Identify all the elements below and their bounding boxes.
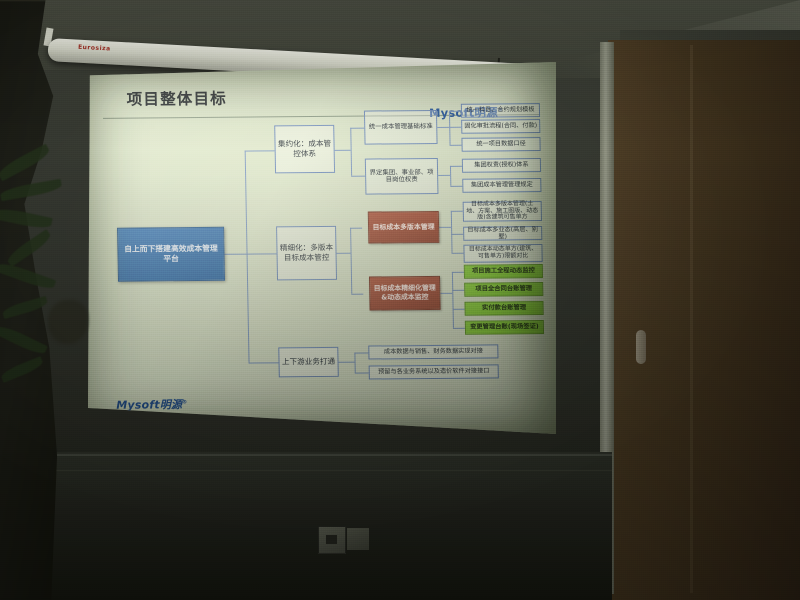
connector [438,175,450,176]
connector [449,127,461,128]
connector [354,353,355,373]
registered-mark: ® [182,399,187,405]
wall-power-socket[interactable] [318,526,346,554]
connector [249,362,279,363]
leaf-item[interactable]: 统一项目数据口径 [461,137,540,152]
node-branch-2-child-1[interactable]: 目标成本多版本管理 [368,211,440,244]
leaf-item[interactable]: 固化审批流程(合同、付款) [461,119,540,134]
mysoft-logo-bottom-left: Mysoft明源® [116,396,187,413]
connector [452,272,464,273]
connector [437,127,449,128]
plant-leaf [0,323,48,357]
connector [225,254,247,255]
leaf-item[interactable]: 集团成本管理管理规定 [462,178,541,193]
connector [451,234,463,235]
connector [355,373,369,374]
connector [452,272,454,328]
door-seam [690,45,693,593]
connector [350,228,362,229]
screenshot-root: Eurosiza 项目整体目标 Mysoft明源® Mysoft明源® [0,0,800,600]
node-branch-2-child-2[interactable]: 目标成本精细化管理&动态成本监控 [369,276,441,311]
connector [452,290,464,291]
wall-power-socket-secondary[interactable] [347,528,369,550]
wooden-door[interactable] [608,40,800,600]
page-title: 项目整体目标 [126,87,227,110]
connector [449,111,461,112]
leaf-item[interactable]: 集团权责(授权)体系 [462,158,541,173]
projected-slide-surface: 项目整体目标 Mysoft明源® Mysoft明源® [88,62,556,434]
connector [245,151,250,363]
potted-plant [0,150,114,480]
connector [439,227,451,228]
connector [450,145,462,146]
node-root[interactable]: 自上而下搭建高效成本管理平台 [117,227,225,282]
plant-leaf [1,296,48,319]
node-branch-1[interactable]: 集约化：成本管控体系 [274,125,335,174]
connector [450,186,462,187]
connector [350,128,364,129]
connector [350,128,352,176]
connector [350,228,352,294]
connector [245,150,275,151]
plant-leaf [0,179,63,202]
projection-screen: 项目整体目标 Mysoft明源® Mysoft明源® [88,62,556,434]
logo-text: Mysoft明源 [116,398,182,412]
connector [450,166,462,167]
leaf-item[interactable]: 实付款台账管理 [464,301,543,316]
connector [351,294,363,295]
node-branch-2[interactable]: 精细化：多版本目标成本管控 [276,226,337,281]
plant-leaf [0,144,52,182]
plant-leaf [5,229,53,267]
connector [351,176,365,177]
leaf-item[interactable]: 统一科目、合约规划模板 [461,103,540,118]
leaf-item[interactable]: 项目全合同台账管理 [464,282,543,297]
connector [451,211,463,212]
node-branch-1-child-1[interactable]: 统一成本管理基础标准 [364,110,438,145]
connector [452,253,464,254]
plant-leaf [0,260,56,292]
connector [453,328,465,329]
connector [450,166,451,186]
leaf-item[interactable]: 预留与各业务系统以及造价软件对接接口 [369,364,499,379]
leaf-item[interactable]: 目标成本动态单方(建筑、可售单方)限额对比 [463,244,542,263]
leaf-item[interactable]: 成本数据与销售、财务数据实现对接 [368,344,498,359]
node-branch-1-child-2[interactable]: 界定集团、事业部、项目岗位权责 [365,158,439,195]
plant-leaf [0,206,53,231]
connector [453,309,465,310]
slide-content: 项目整体目标 Mysoft明源® Mysoft明源® [88,62,556,434]
leaf-item[interactable]: 变更管理台账(现场签证) [465,320,544,335]
connector [354,353,368,354]
connector [451,211,453,253]
leaf-item[interactable]: 目标成本多业态(高层、别墅) [463,226,542,241]
connector [335,150,351,151]
leaf-item[interactable]: 目标成本多版本管理(土地、方案、施工图版、动态版)含建筑可售单方 [463,201,542,222]
node-branch-3[interactable]: 上下游业务打通 [278,347,339,378]
connector [337,253,351,254]
plant-leaf [0,356,44,383]
connector [440,293,452,294]
connector [247,253,277,254]
door-handle[interactable] [636,330,646,364]
connector [339,362,355,363]
leaf-item[interactable]: 项目施工全程动态监控 [464,264,543,279]
